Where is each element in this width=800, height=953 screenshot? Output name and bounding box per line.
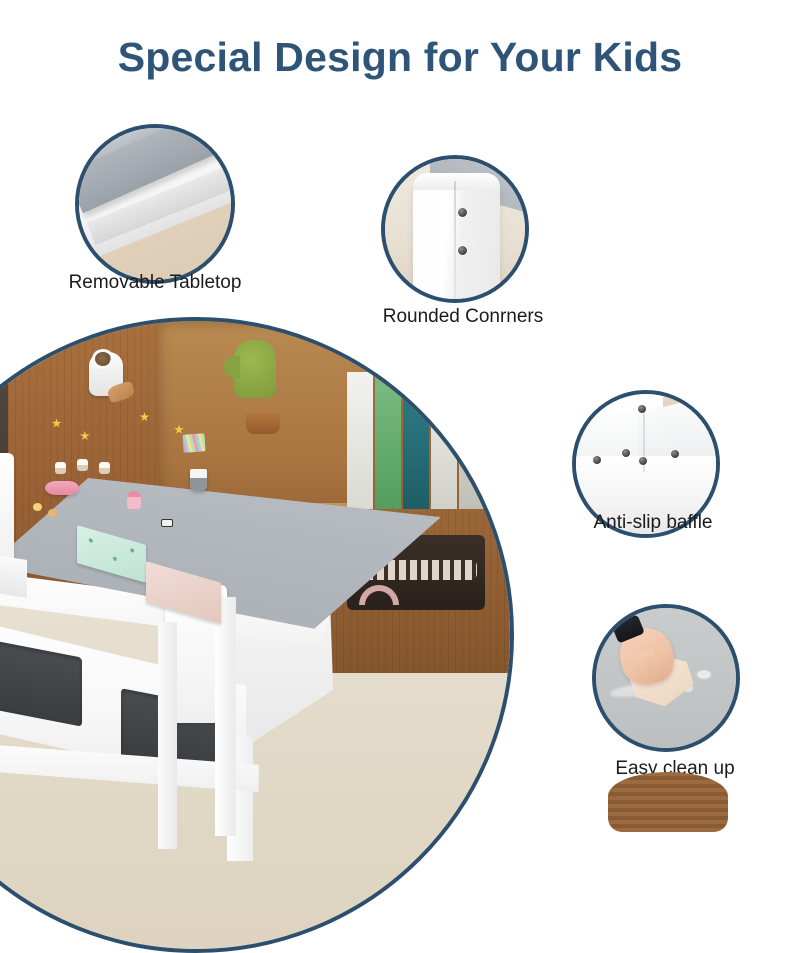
astronaut-helmet: [92, 349, 114, 369]
woven-basket: [608, 772, 728, 832]
finger: [647, 649, 656, 671]
page-title: Special Design for Your Kids: [0, 34, 800, 81]
feature-image-easy-clean-up: [592, 604, 740, 752]
snack: [33, 503, 42, 511]
cupcake: [55, 462, 66, 474]
chair-right-leg: [215, 597, 236, 836]
feature-image-rounded-corners: [381, 155, 529, 303]
badge: [161, 519, 173, 527]
feature-label-removable-tabletop: Removable Tabletop: [10, 272, 300, 294]
colored-pencils: [183, 433, 206, 452]
post-top-edge: [413, 173, 500, 190]
carousel-toy: [127, 491, 141, 509]
chair-left-back: [0, 453, 14, 566]
corner-fold-line: [454, 181, 456, 299]
cactus-plant: [234, 340, 276, 398]
pencil-cup: [190, 469, 207, 491]
screw-icon: [622, 449, 630, 457]
screw-icon: [638, 405, 646, 413]
book: [431, 365, 457, 522]
screw-icon: [458, 246, 467, 255]
book: [459, 395, 485, 522]
book-row: [347, 359, 485, 522]
feature-label-anti-slip-baffle: Anti-slip baffle: [508, 512, 798, 534]
book: [375, 359, 401, 522]
main-product-photo: [0, 317, 514, 953]
cupcake: [99, 462, 110, 474]
infographic-canvas: Special Design for Your Kids Removable T…: [0, 0, 800, 800]
screw-icon: [458, 208, 467, 217]
feature-image-removable-tabletop: [75, 124, 235, 284]
book: [403, 382, 429, 522]
cupcake-stand: [45, 481, 79, 495]
water-droplet: [697, 670, 711, 679]
screw-icon: [593, 456, 601, 464]
cupcake: [77, 459, 88, 471]
book: [347, 372, 373, 522]
white-corner-post: [413, 179, 500, 303]
chair-right-leg: [158, 622, 177, 848]
screw-icon: [639, 457, 647, 465]
terracotta-pot: [246, 412, 280, 434]
